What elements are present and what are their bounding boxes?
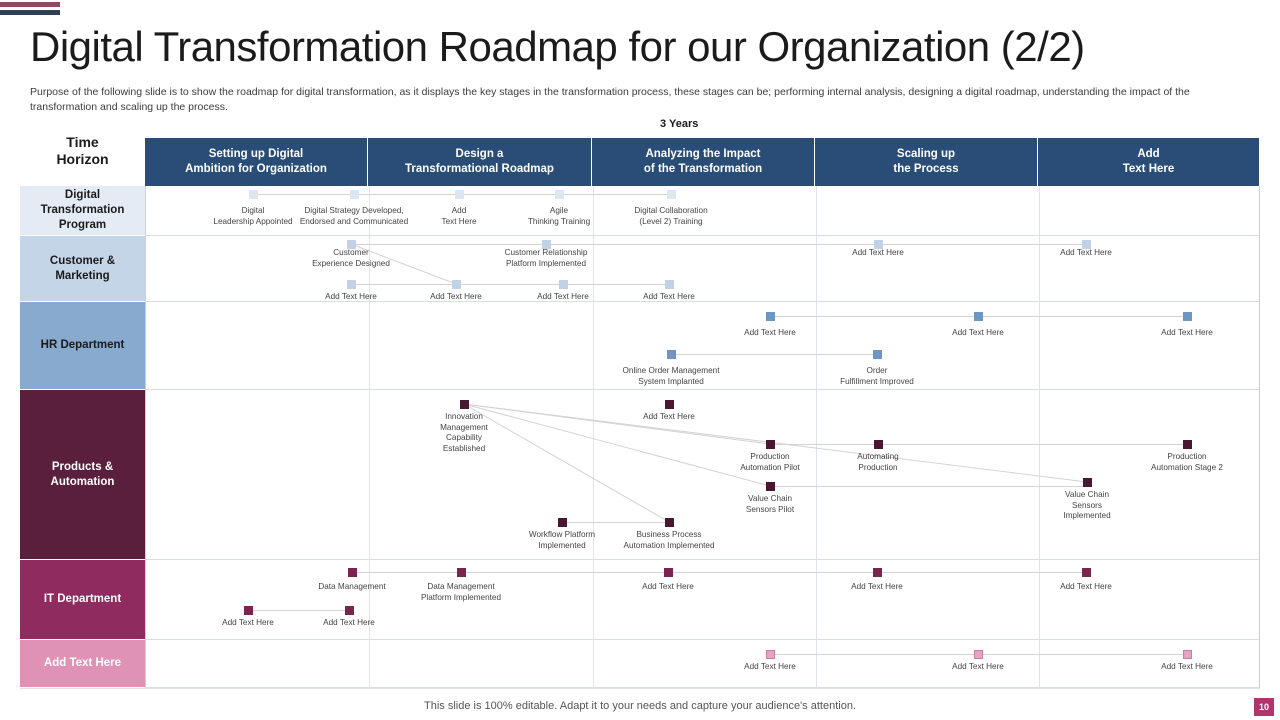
milestone-label: Production Automation Stage 2 (1151, 452, 1223, 473)
milestone-label: Add Text Here (952, 662, 1004, 673)
milestone-marker[interactable] (559, 280, 568, 289)
column-separator-1 (369, 302, 370, 389)
milestone-marker[interactable] (348, 568, 357, 577)
roadmap-matrix: Time Horizon Setting up Digital Ambition… (20, 138, 1260, 688)
milestone-label: Add Text Here (744, 328, 796, 339)
row-band-2: Customer Experience DesignedCustomer Rel… (145, 236, 1260, 302)
row-band-6: Add Text HereAdd Text HereAdd Text Here (145, 640, 1260, 688)
milestone-marker[interactable] (873, 568, 882, 577)
column-separator-3 (816, 236, 817, 301)
connector-line (671, 354, 877, 355)
milestone-label: Add Text Here (222, 618, 274, 629)
milestone-label: Order Fulfillment Improved (840, 366, 914, 387)
column-header-4[interactable]: Scaling up the Process (815, 138, 1038, 186)
column-separator-3 (816, 390, 817, 559)
milestone-marker[interactable] (1183, 440, 1192, 449)
column-separator-2 (593, 640, 594, 687)
row-label-2[interactable]: Customer & Marketing (20, 236, 145, 302)
milestone-label: Digital Strategy Developed, Endorsed and… (300, 206, 408, 227)
milestone-label: Value Chain Sensors Implemented (1063, 490, 1110, 522)
milestone-marker[interactable] (766, 312, 775, 321)
milestone-marker[interactable] (974, 312, 983, 321)
column-header-5[interactable]: Add Text Here (1038, 138, 1260, 186)
footer-note: This slide is 100% editable. Adapt it to… (0, 700, 1280, 712)
milestone-label: Agile Thinking Training (528, 206, 590, 227)
milestone-marker[interactable] (667, 350, 676, 359)
page-subtitle: Purpose of the following slide is to sho… (30, 85, 1210, 115)
connector-line (351, 284, 669, 285)
milestone-marker[interactable] (766, 440, 775, 449)
milestone-label: Add Text Here (952, 328, 1004, 339)
milestone-marker[interactable] (664, 568, 673, 577)
row-band-1: Digital Leadership AppointedDigital Stra… (145, 186, 1260, 236)
milestone-label: Add Text Here (852, 248, 904, 259)
column-separator-1 (369, 640, 370, 687)
milestone-label: Add Text Here (1161, 662, 1213, 673)
milestone-marker[interactable] (873, 350, 882, 359)
milestone-label: Add Text Here (744, 662, 796, 673)
row-band-4: Innovation Management Capability Establi… (145, 390, 1260, 560)
decorative-corner-bars (0, 0, 120, 16)
milestone-label: Data Management Platform Implemented (421, 582, 501, 603)
milestone-marker[interactable] (665, 518, 674, 527)
milestone-label: Add Text Here (1060, 248, 1112, 259)
row-label-4[interactable]: Products & Automation (20, 390, 145, 560)
deco-bar-bottom (0, 10, 60, 15)
row-band-3: Add Text HereAdd Text HereAdd Text HereO… (145, 302, 1260, 390)
milestone-label: Production Automation Pilot (740, 452, 800, 473)
footer-divider (20, 688, 1260, 689)
milestone-marker[interactable] (766, 482, 775, 491)
milestone-marker[interactable] (244, 606, 253, 615)
column-separator-3 (816, 640, 817, 687)
milestone-marker[interactable] (558, 518, 567, 527)
milestone-label: Add Text Here (441, 206, 476, 227)
page-number-badge: 10 (1254, 698, 1274, 716)
row-label-3[interactable]: HR Department (20, 302, 145, 390)
milestone-label: Business Process Automation Implemented (623, 530, 714, 551)
milestone-label: Add Text Here (323, 618, 375, 629)
milestone-marker[interactable] (452, 280, 461, 289)
milestone-label: Data Management (318, 582, 385, 593)
column-separator-3 (816, 186, 817, 235)
milestone-label: Customer Relationship Platform Implement… (505, 248, 588, 269)
milestone-label: Online Order Management System Implanted (623, 366, 720, 387)
milestone-label: Workflow Platform Implemented (529, 530, 595, 551)
row-label-5[interactable]: IT Department (20, 560, 145, 640)
column-header-3[interactable]: Analyzing the Impact of the Transformati… (592, 138, 815, 186)
milestone-marker[interactable] (1183, 650, 1192, 659)
milestone-label: Automating Production (857, 452, 898, 473)
milestone-label: Customer Experience Designed (312, 248, 390, 269)
connector-line (351, 244, 1086, 245)
milestone-marker[interactable] (455, 190, 464, 199)
milestone-marker[interactable] (665, 280, 674, 289)
column-separator-4 (1039, 390, 1040, 559)
connector-line (770, 486, 1087, 487)
column-separator-4 (1039, 186, 1040, 235)
deco-bar-top (0, 2, 60, 7)
column-header-row: Setting up Digital Ambition for Organiza… (20, 138, 1260, 186)
column-separator-4 (1039, 236, 1040, 301)
connector-line (562, 522, 669, 523)
milestone-marker[interactable] (347, 280, 356, 289)
milestone-label: Add Text Here (851, 582, 903, 593)
column-separator-2 (593, 302, 594, 389)
milestone-label: Add Text Here (642, 582, 694, 593)
milestone-marker[interactable] (350, 190, 359, 199)
milestone-label: Add Text Here (1161, 328, 1213, 339)
milestone-marker[interactable] (457, 568, 466, 577)
milestone-label: Innovation Management Capability Establi… (440, 412, 488, 455)
page-title: Digital Transformation Roadmap for our O… (30, 24, 1250, 70)
milestone-marker[interactable] (665, 400, 674, 409)
connector-line (248, 610, 349, 611)
row-band-5: Data ManagementData Management Platform … (145, 560, 1260, 640)
column-separator-2 (593, 236, 594, 301)
milestone-marker[interactable] (555, 190, 564, 199)
milestone-marker[interactable] (1082, 568, 1091, 577)
milestone-marker[interactable] (667, 190, 676, 199)
milestone-label: Add Text Here (1060, 582, 1112, 593)
milestone-label: Add Text Here (643, 412, 695, 423)
connector-line (770, 444, 1187, 445)
milestone-marker[interactable] (874, 440, 883, 449)
row-label-6[interactable]: Add Text Here (20, 640, 145, 688)
milestone-label: Digital Leadership Appointed (213, 206, 292, 227)
milestone-marker[interactable] (249, 190, 258, 199)
milestone-marker[interactable] (1183, 312, 1192, 321)
milestone-marker[interactable] (460, 400, 469, 409)
milestone-marker[interactable] (974, 650, 983, 659)
milestone-label: Value Chain Sensors Pilot (746, 494, 794, 515)
milestone-label: Digital Collaboration (Level 2) Training (634, 206, 707, 227)
milestone-marker[interactable] (345, 606, 354, 615)
row-label-1[interactable]: Digital Transformation Program (20, 186, 145, 236)
column-header-1[interactable]: Setting up Digital Ambition for Organiza… (145, 138, 368, 186)
column-separator-4 (1039, 640, 1040, 687)
milestone-marker[interactable] (766, 650, 775, 659)
timeline-caption: 3 Years (660, 118, 698, 130)
column-separator-1 (369, 390, 370, 559)
milestone-marker[interactable] (1083, 478, 1092, 487)
column-header-2[interactable]: Design a Transformational Roadmap (368, 138, 592, 186)
